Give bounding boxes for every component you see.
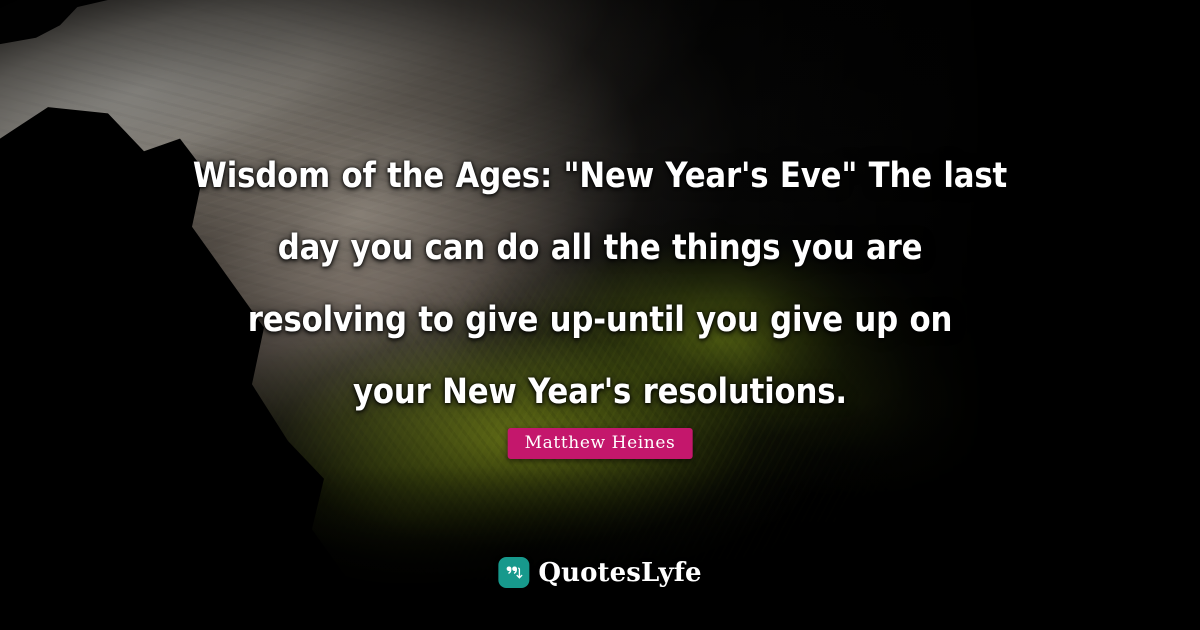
brand-logo[interactable]: QuotesLyfe xyxy=(498,557,701,588)
quote-line-4: your New Year's resolutions. xyxy=(169,356,1031,428)
quote-line-3: resolving to give up-until you give up o… xyxy=(169,284,1031,356)
author-badge[interactable]: Matthew Heines xyxy=(508,428,693,459)
quote-mark-icon xyxy=(498,557,529,588)
author-name: Matthew Heines xyxy=(525,433,676,453)
brand-name: QuotesLyfe xyxy=(538,560,701,586)
quote-line-1: Wisdom of the Ages: "New Year's Eve" The… xyxy=(169,140,1031,212)
quote-block: Wisdom of the Ages: "New Year's Eve" The… xyxy=(110,140,1090,428)
card-content: Wisdom of the Ages: "New Year's Eve" The… xyxy=(0,0,1200,630)
quote-card: Wisdom of the Ages: "New Year's Eve" The… xyxy=(0,0,1200,630)
quote-line-2: day you can do all the things you are xyxy=(169,212,1031,284)
